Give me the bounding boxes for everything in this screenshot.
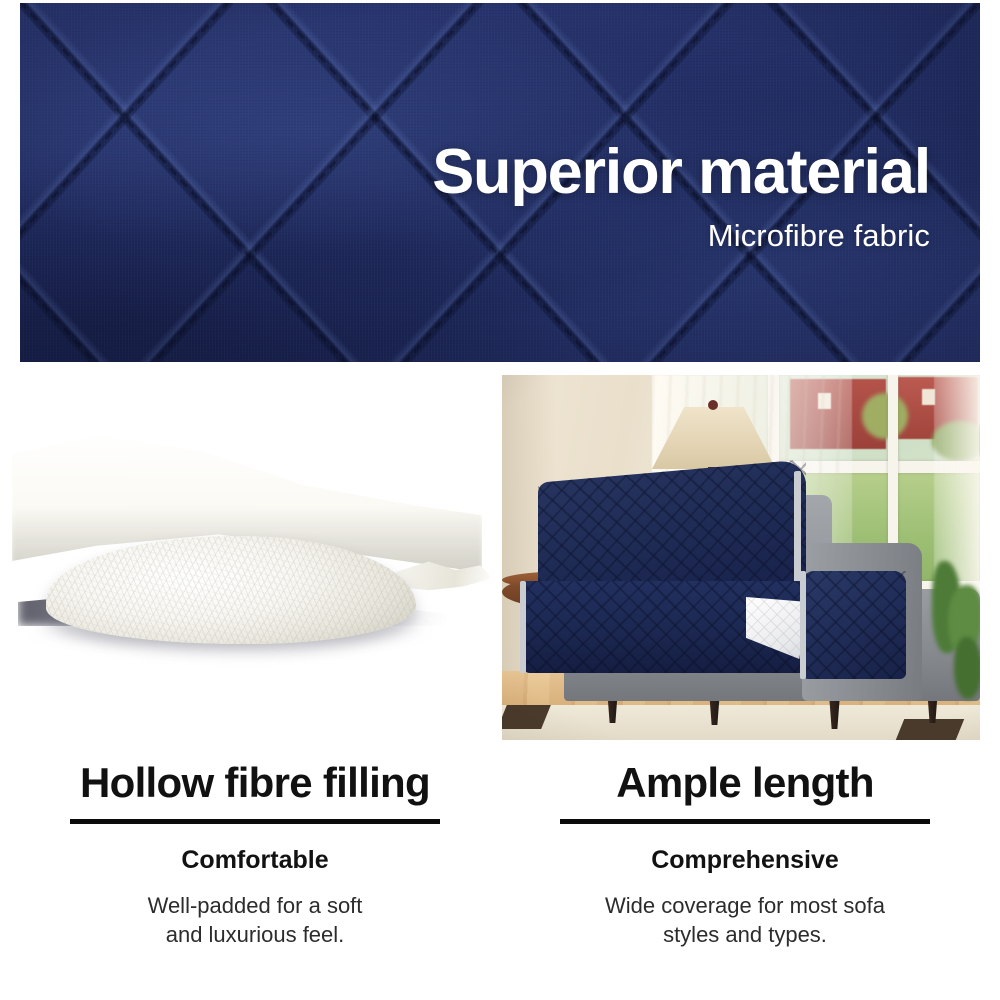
feature-title: Hollow fibre filling (20, 760, 490, 805)
product-feature-page: Superior material Microfibre fabric (0, 0, 1000, 1000)
photo-edge-vignette (502, 375, 980, 740)
banner-text-block: Superior material Microfibre fabric (432, 141, 930, 254)
feature-column-hollow-fibre-filling: Hollow fibre filling Comfortable Well-pa… (20, 760, 490, 949)
banner-headline: Superior material (432, 141, 930, 204)
feature-divider-rule (560, 819, 930, 824)
feature-description-line-2: and luxurious feel. (20, 920, 490, 949)
banner-subheadline: Microfibre fabric (432, 218, 930, 254)
feature-description-line-1: Well-padded for a soft (20, 891, 490, 920)
feature-description-line-2: styles and types. (510, 920, 980, 949)
feature-description-line-1: Wide coverage for most sofa (510, 891, 980, 920)
superior-material-banner: Superior material Microfibre fabric (20, 3, 980, 362)
feature-title: Ample length (510, 760, 980, 805)
feature-divider-rule (70, 819, 440, 824)
feature-subtitle: Comfortable (20, 846, 490, 875)
feature-description: Wide coverage for most sofa styles and t… (510, 891, 980, 949)
hollow-fibre-wadding-photo (0, 408, 490, 708)
feature-subtitle: Comprehensive (510, 846, 980, 875)
feature-description: Well-padded for a soft and luxurious fee… (20, 891, 490, 949)
feature-column-ample-length: Ample length Comprehensive Wide coverage… (510, 760, 980, 949)
sofa-cover-room-photo (502, 375, 980, 740)
